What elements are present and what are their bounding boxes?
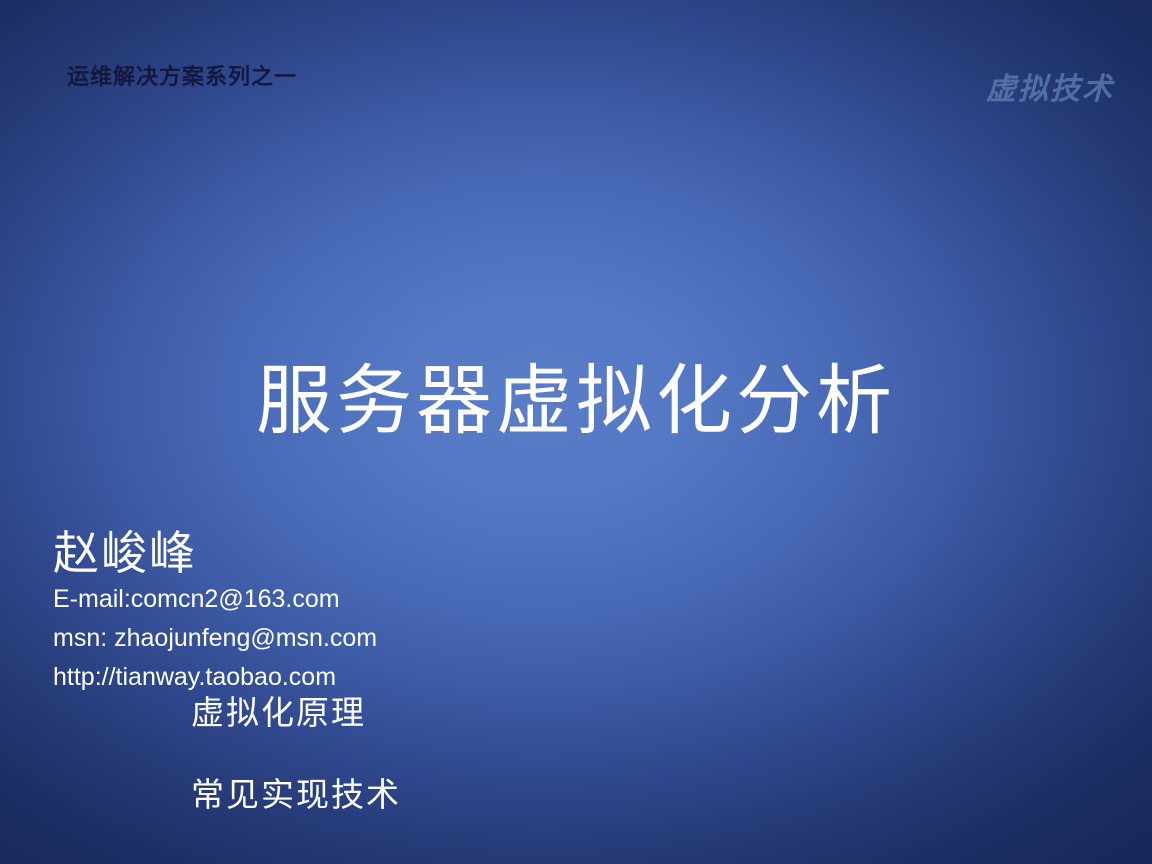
brand-logo-text: 虚拟技术 (986, 70, 1114, 109)
author-msn: msn: zhaojunfeng@msn.com (53, 619, 613, 658)
author-name: 赵峻峰 (53, 528, 613, 580)
slide-main-title: 服务器虚拟化分析 (0, 361, 1152, 445)
slide-series-label: 运维解决方案系列之一 (67, 63, 297, 92)
presentation-slide: 运维解决方案系列之一 虚拟技术 服务器虚拟化分析 赵峻峰 E-mail:comc… (0, 0, 1152, 864)
author-contact-block: 赵峻峰 E-mail:comcn2@163.com msn: zhaojunfe… (53, 528, 613, 697)
agenda-item-virtualization-principle: 虚拟化原理 (191, 696, 366, 732)
author-email: E-mail:comcn2@163.com (53, 580, 613, 619)
agenda-item-common-technologies: 常见实现技术 (191, 778, 401, 814)
author-website-url: http://tianway.taobao.com (53, 658, 613, 697)
